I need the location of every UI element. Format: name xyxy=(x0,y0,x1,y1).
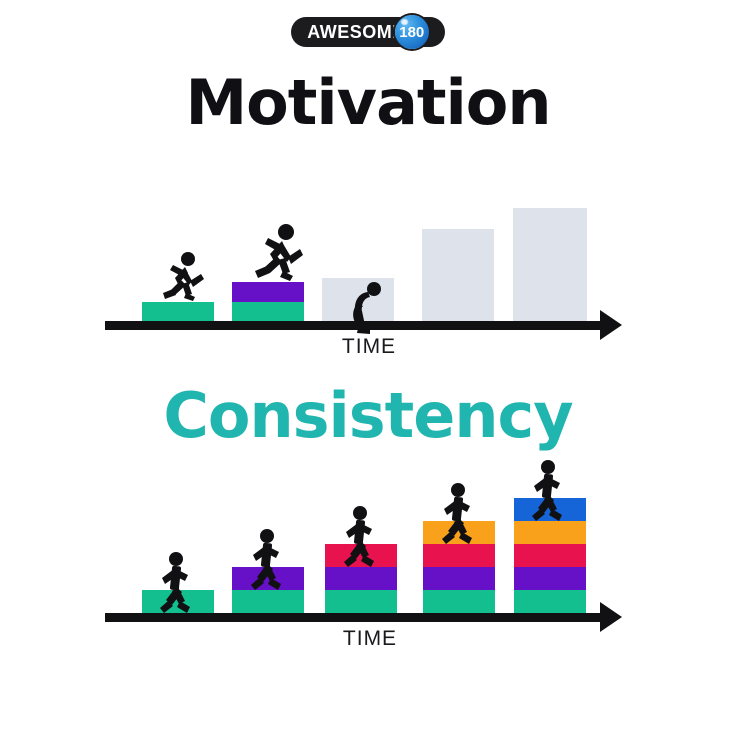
segment-pink xyxy=(423,544,495,567)
bar-motivation-1 xyxy=(142,302,214,322)
brand-logo: AWESOME 180 xyxy=(0,10,736,54)
axis-arrow-motivation xyxy=(600,310,622,340)
figure-walking-1 xyxy=(154,551,196,613)
figure-running-1 xyxy=(161,251,205,301)
chart-motivation: TIME xyxy=(0,190,736,365)
logo-pill: AWESOME 180 xyxy=(291,17,445,47)
chart-consistency: TIME xyxy=(0,455,736,660)
page-title-consistency: Consistency xyxy=(0,385,736,447)
figure-walking-2 xyxy=(245,528,287,590)
segment-purple xyxy=(514,567,586,590)
logo-number: 180 xyxy=(399,25,424,40)
segment-purple xyxy=(325,567,397,590)
segment-purple xyxy=(232,282,304,302)
segment-green xyxy=(423,590,495,613)
figure-walking-3 xyxy=(338,505,380,567)
logo-orb-icon: 180 xyxy=(395,15,429,49)
figure-running-2 xyxy=(253,223,303,281)
segment-pink xyxy=(514,544,586,567)
bar-motivation-5-placeholder xyxy=(513,208,587,322)
segment-purple xyxy=(423,567,495,590)
figure-walking-5 xyxy=(526,459,568,521)
segment-green xyxy=(232,590,304,613)
segment-green xyxy=(232,302,304,322)
axis-line-motivation xyxy=(105,321,605,330)
poster-canvas: AWESOME 180 Motivation xyxy=(0,0,736,736)
figure-walking-4 xyxy=(436,482,478,544)
axis-line-consistency xyxy=(105,613,605,622)
segment-orange xyxy=(514,521,586,544)
bar-motivation-4-placeholder xyxy=(422,229,494,322)
segment-green xyxy=(325,590,397,613)
bar-motivation-2 xyxy=(232,282,304,322)
axis-arrow-consistency xyxy=(600,602,622,632)
axis-label-time-consistency: TIME xyxy=(310,627,430,651)
segment-green xyxy=(142,302,214,322)
segment-green xyxy=(514,590,586,613)
page-title-motivation: Motivation xyxy=(0,72,736,134)
axis-label-time-motivation: TIME xyxy=(309,335,429,359)
